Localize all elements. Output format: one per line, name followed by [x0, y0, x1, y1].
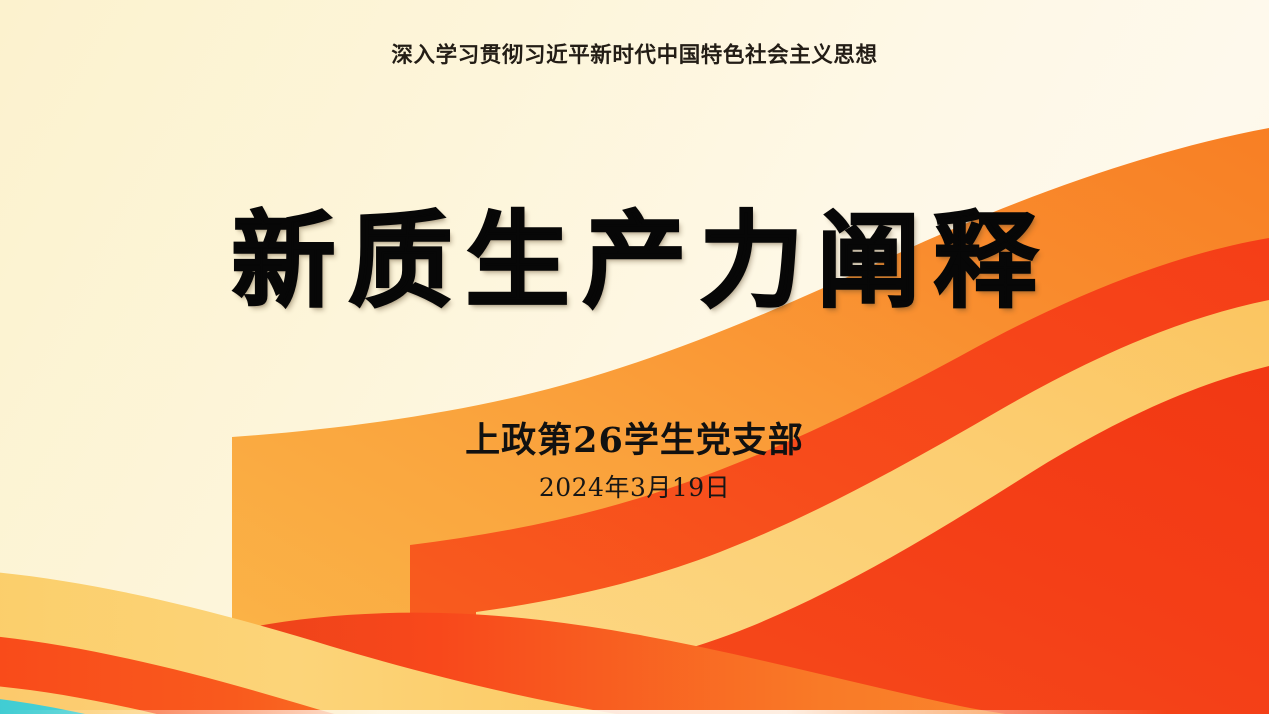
presentation-slide: 深入学习贯彻习近平新时代中国特色社会主义思想 新质生产力阐释 上政第26学生党支… [0, 0, 1269, 714]
organization-name: 上政第26学生党支部 [0, 420, 1269, 461]
ribbon-left-gold-top [0, 570, 700, 714]
ribbon-center-red-arc [150, 613, 1110, 714]
slide-title-text: 新质生产力阐释 [218, 205, 1050, 317]
ribbon-right-gold [476, 300, 1269, 714]
bottom-edge-sliver [0, 710, 1269, 714]
slide-title: 新质生产力阐释 [0, 205, 1269, 317]
ribbon-left-red [0, 634, 600, 714]
slide-date: 2024年3月19日 [0, 468, 1269, 504]
ribbon-right-deep-red [520, 366, 1269, 714]
slide-subtitle-block: 上政第26学生党支部 2024年3月19日 [0, 420, 1269, 504]
header-slogan: 深入学习贯彻习近平新时代中国特色社会主义思想 [0, 38, 1269, 69]
decorative-ribbons [0, 0, 1269, 714]
header-slogan-text: 深入学习贯彻习近平新时代中国特色社会主义思想 [391, 38, 877, 69]
